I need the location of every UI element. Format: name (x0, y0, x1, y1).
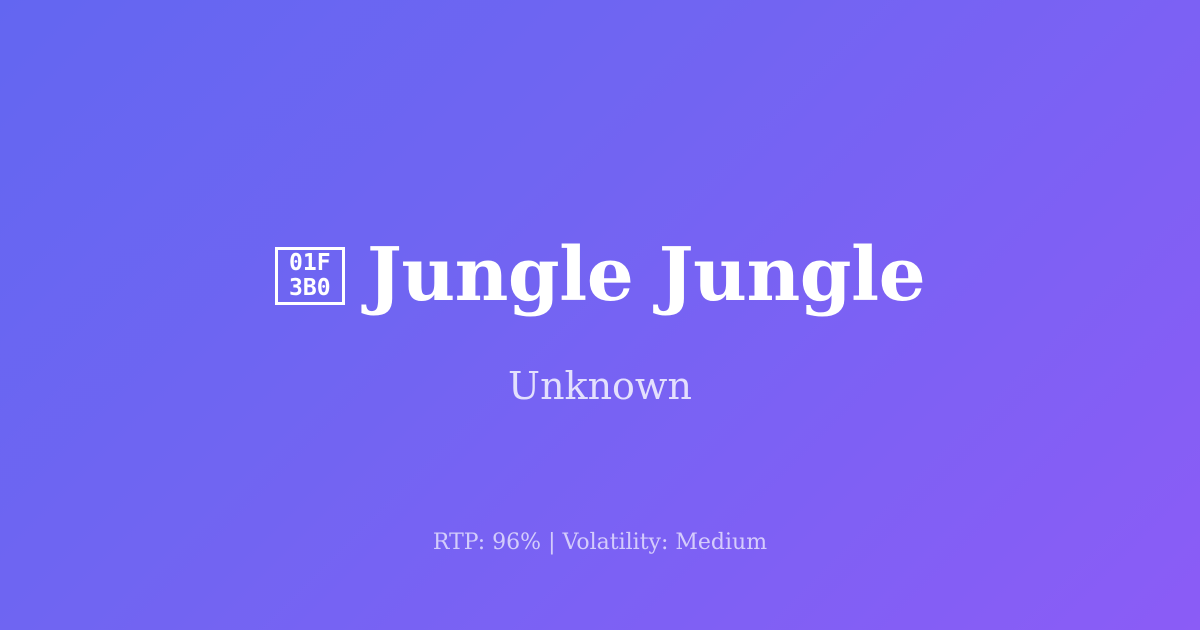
game-stats-line: RTP: 96% | Volatility: Medium (0, 528, 1200, 559)
page-title: Jungle Jungle (367, 235, 925, 316)
title-row: 01F 3B0 Jungle Jungle (0, 228, 1200, 324)
tofu-codepoint-bottom: 3B0 (289, 277, 331, 300)
slot-machine-icon: 01F 3B0 (275, 247, 345, 305)
tofu-codepoint-top: 01F (289, 252, 331, 275)
card-subtitle: Unknown (0, 362, 1200, 411)
og-share-card: 01F 3B0 Jungle Jungle Unknown RTP: 96% |… (0, 0, 1200, 630)
